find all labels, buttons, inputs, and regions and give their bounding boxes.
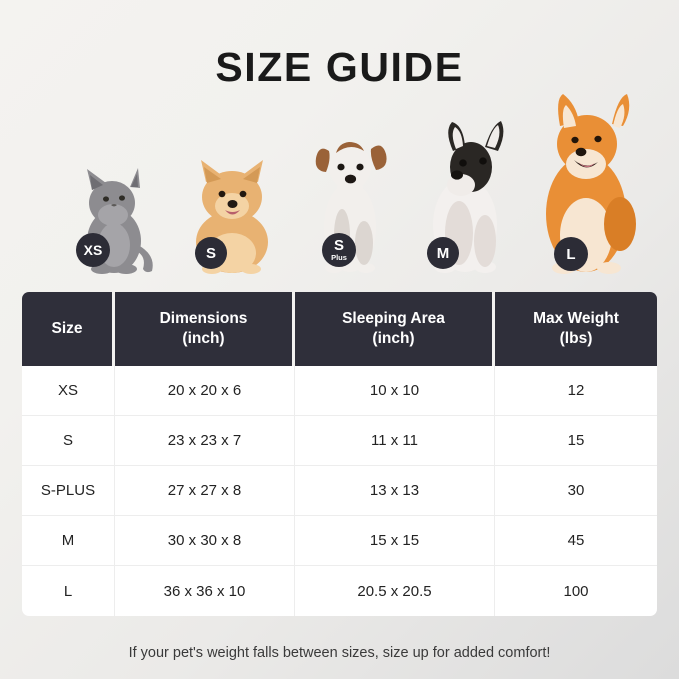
pet-illustration-row: XS xyxy=(24,90,655,275)
cell-size: M xyxy=(22,516,115,566)
cat-illustration xyxy=(56,145,166,275)
column-header-line1: Sleeping Area xyxy=(299,309,488,329)
column-header-line1: Dimensions xyxy=(119,309,288,329)
cell-dimensions: 30 x 30 x 8 xyxy=(115,516,295,566)
column-header-max-weight: Max Weight (lbs) xyxy=(495,292,657,366)
pet-figure-m: M xyxy=(409,115,519,275)
size-badge-s: S xyxy=(195,237,227,269)
cell-size: XS xyxy=(22,366,115,416)
size-badge-label: S xyxy=(206,246,216,261)
size-badge-m: M xyxy=(427,237,459,269)
size-badge-xs: XS xyxy=(76,233,110,267)
column-header-line1: Max Weight xyxy=(499,309,653,329)
cell-max-weight: 12 xyxy=(495,366,657,416)
column-header-line1: Size xyxy=(26,319,108,339)
table-header-row: Size Dimensions (inch) Sleeping Area (in… xyxy=(22,292,657,366)
size-badge-sublabel: Plus xyxy=(331,254,347,262)
pet-figure-s-plus: S Plus xyxy=(296,115,401,275)
cell-max-weight: 45 xyxy=(495,516,657,566)
cell-size: S-PLUS xyxy=(22,466,115,516)
bulldog-illustration xyxy=(409,115,519,275)
cell-sleeping-area: 11 x 11 xyxy=(295,416,495,466)
cell-dimensions: 20 x 20 x 6 xyxy=(115,366,295,416)
size-badge-l: L xyxy=(554,237,588,271)
page-title: SIZE GUIDE xyxy=(0,44,679,91)
cell-sleeping-area: 10 x 10 xyxy=(295,366,495,416)
size-badge-label: L xyxy=(566,247,575,262)
cell-max-weight: 30 xyxy=(495,466,657,516)
cell-sleeping-area: 20.5 x 20.5 xyxy=(295,566,495,616)
pet-figure-xs: XS xyxy=(56,145,166,275)
cell-dimensions: 36 x 36 x 10 xyxy=(115,566,295,616)
table-row: XS 20 x 20 x 6 10 x 10 12 xyxy=(22,366,657,416)
cell-size: L xyxy=(22,566,115,616)
cell-sleeping-area: 13 x 13 xyxy=(295,466,495,516)
size-guide-page: SIZE GUIDE xyxy=(0,0,679,679)
size-table: Size Dimensions (inch) Sleeping Area (in… xyxy=(22,292,657,616)
cell-size: S xyxy=(22,416,115,466)
table-row: S-PLUS 27 x 27 x 8 13 x 13 30 xyxy=(22,466,657,516)
size-badge-label: M xyxy=(437,246,450,261)
column-header-size: Size xyxy=(22,292,115,366)
cell-sleeping-area: 15 x 15 xyxy=(295,516,495,566)
cell-max-weight: 15 xyxy=(495,416,657,466)
column-header-dimensions: Dimensions (inch) xyxy=(115,292,295,366)
table-row: L 36 x 36 x 10 20.5 x 20.5 100 xyxy=(22,566,657,616)
cell-dimensions: 27 x 27 x 8 xyxy=(115,466,295,516)
table-row: M 30 x 30 x 8 15 x 15 45 xyxy=(22,516,657,566)
size-table-header: Size Dimensions (inch) Sleeping Area (in… xyxy=(22,292,657,366)
cell-dimensions: 23 x 23 x 7 xyxy=(115,416,295,466)
cell-max-weight: 100 xyxy=(495,566,657,616)
size-badge-s-plus: S Plus xyxy=(322,233,356,267)
size-badge-label: XS xyxy=(84,243,103,257)
column-header-line2: (inch) xyxy=(119,329,288,349)
column-header-sleeping-area: Sleeping Area (inch) xyxy=(295,292,495,366)
column-header-line2: (lbs) xyxy=(499,329,653,349)
size-badge-label: S xyxy=(334,238,344,253)
table-row: S 23 x 23 x 7 11 x 11 15 xyxy=(22,416,657,466)
column-header-line2: (inch) xyxy=(299,329,488,349)
footer-note: If your pet's weight falls between sizes… xyxy=(0,645,679,661)
pet-figure-s: S xyxy=(179,150,284,275)
size-table-body: XS 20 x 20 x 6 10 x 10 12 S 23 x 23 x 7 … xyxy=(22,366,657,616)
pet-figure-l: L xyxy=(524,92,649,275)
